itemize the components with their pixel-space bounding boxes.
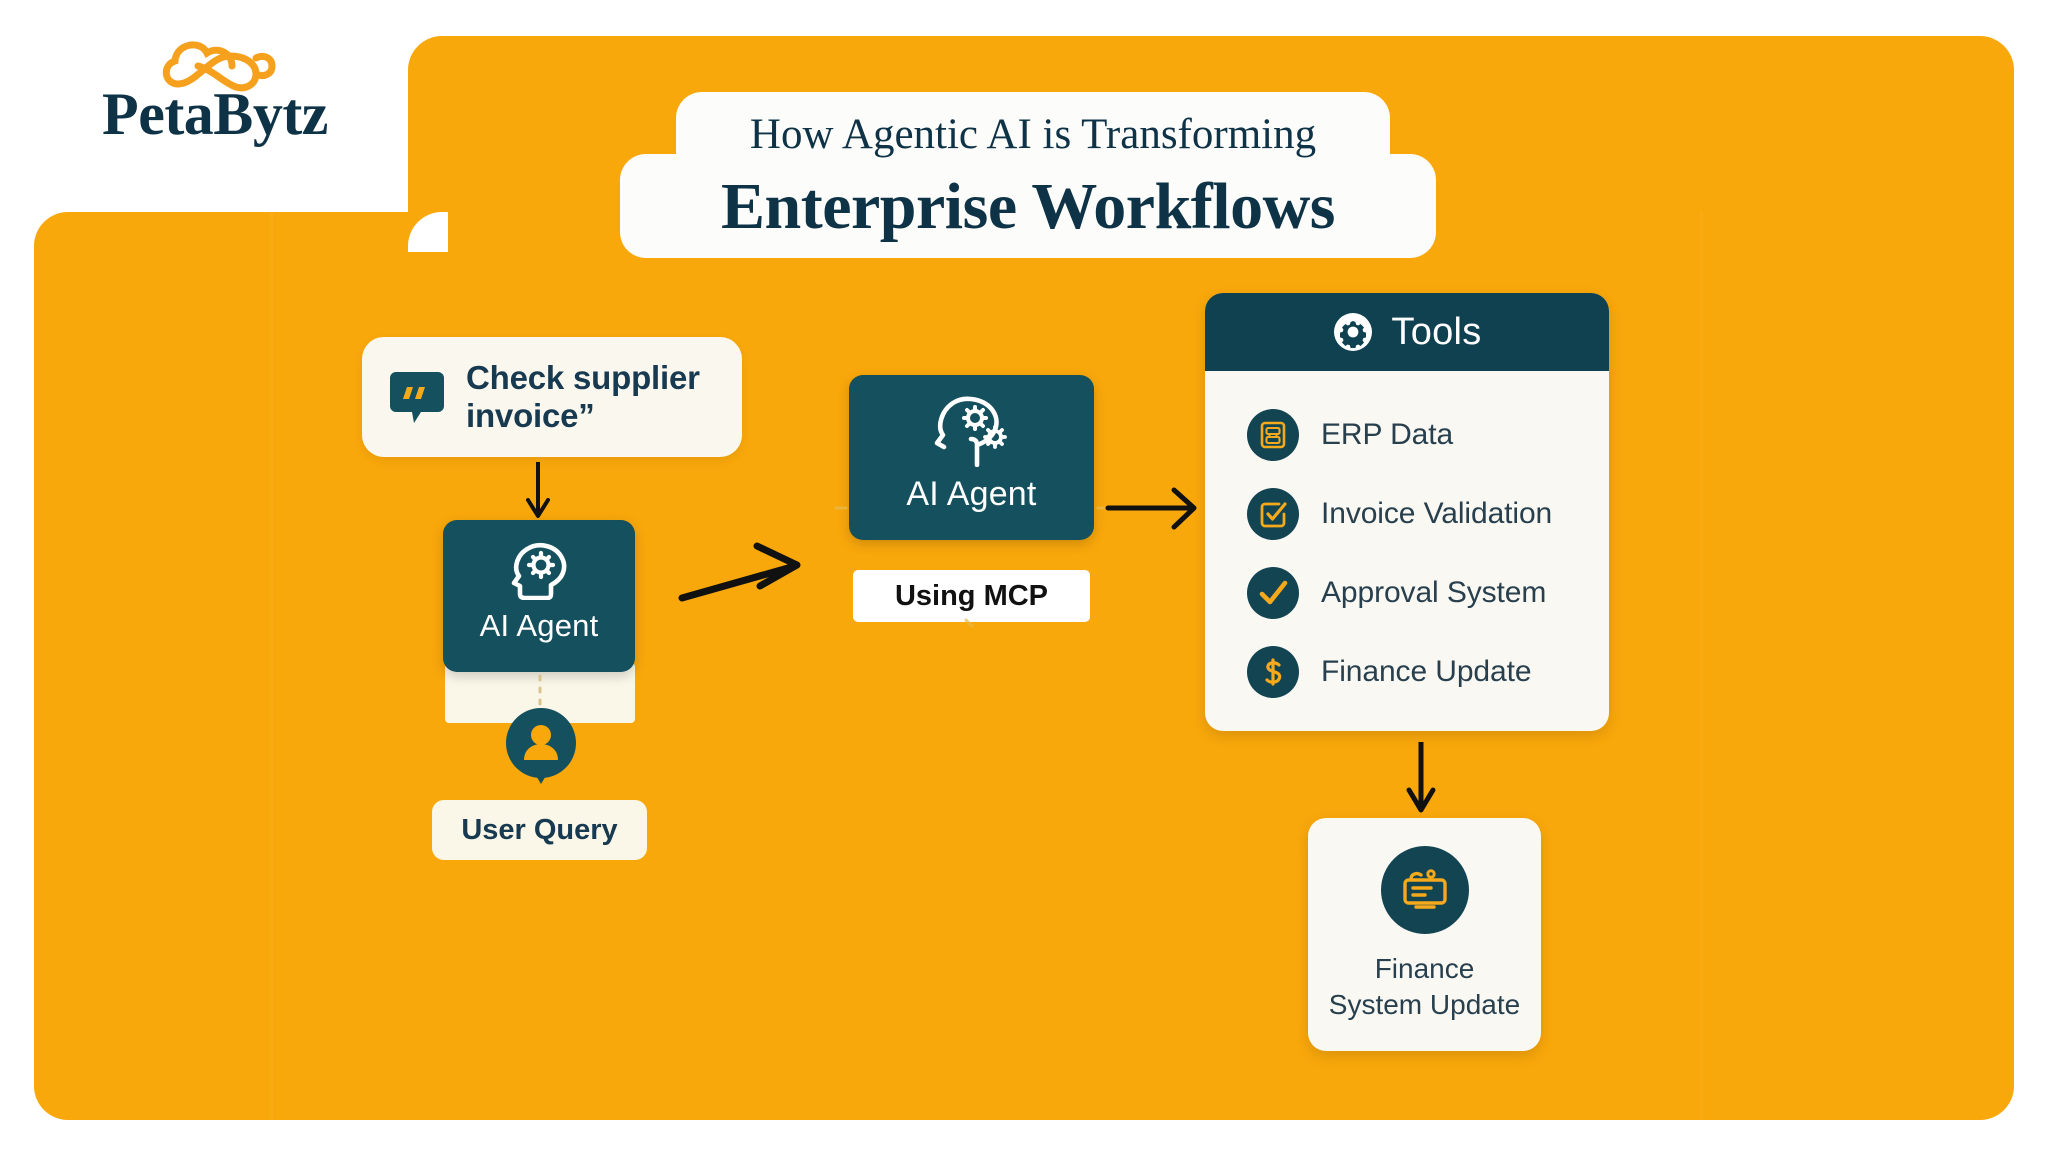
- tools-list: ERP Data Invoice Validation Approval Sys…: [1205, 371, 1609, 711]
- tool-label: ERP Data: [1321, 418, 1453, 452]
- prompt-text-line2: invoice”: [466, 397, 700, 435]
- user-avatar-icon: [503, 708, 579, 784]
- ledger-invoice-icon: [1381, 846, 1469, 934]
- finance-system-update-card[interactable]: Finance System Update: [1308, 818, 1541, 1051]
- canvas-main-panel: [34, 212, 2014, 1120]
- gear-icon: [1332, 311, 1374, 353]
- finance-label-line1: Finance: [1308, 951, 1541, 987]
- quote-bubble-icon: [388, 368, 446, 426]
- ai-agent-2-label: AI Agent: [849, 475, 1094, 514]
- finance-label-line2: System Update: [1308, 987, 1541, 1023]
- user-query-text: User Query: [461, 814, 617, 847]
- tool-item-finance-update[interactable]: Finance Update: [1247, 632, 1609, 711]
- tools-panel: Tools ERP Data Invoice V: [1205, 293, 1609, 731]
- user-query-label: User Query: [432, 800, 647, 860]
- title-line2-text: Enterprise Workflows: [620, 162, 1436, 252]
- ai-agent-1-label: AI Agent: [443, 608, 635, 644]
- ai-agent-node-1[interactable]: AI Agent: [443, 520, 635, 672]
- tool-item-erp-data[interactable]: ERP Data: [1247, 395, 1609, 474]
- tools-panel-header: Tools: [1205, 293, 1609, 371]
- checkbox-check-icon: [1247, 488, 1299, 540]
- tool-item-approval-system[interactable]: Approval System: [1247, 553, 1609, 632]
- prompt-text-line1: Check supplier: [466, 359, 700, 397]
- head-two-gears-icon: [929, 391, 1017, 467]
- currency-dollar-icon: [1247, 646, 1299, 698]
- tool-label: Invoice Validation: [1321, 497, 1552, 531]
- page-title: How Agentic AI is Transforming Enterpris…: [620, 92, 1440, 262]
- tool-item-invoice-validation[interactable]: Invoice Validation: [1247, 474, 1609, 553]
- finance-card-label: Finance System Update: [1308, 951, 1541, 1023]
- prompt-bubble-card[interactable]: Check supplier invoice”: [362, 337, 742, 457]
- brand-wordmark: PetaBytz: [80, 84, 350, 144]
- head-gear-icon: [505, 538, 573, 600]
- prompt-bubble-text: Check supplier invoice”: [466, 359, 700, 435]
- tools-panel-title: Tools: [1391, 311, 1481, 354]
- erp-database-icon: [1247, 409, 1299, 461]
- tool-label: Finance Update: [1321, 655, 1531, 689]
- tool-label: Approval System: [1321, 576, 1546, 610]
- brand-logo: PetaBytz: [80, 34, 350, 154]
- using-mcp-text: Using MCP: [895, 580, 1048, 613]
- check-mark-icon: [1247, 567, 1299, 619]
- title-line1-text: How Agentic AI is Transforming: [676, 100, 1390, 170]
- ai-agent-node-2[interactable]: AI Agent: [849, 375, 1094, 540]
- using-mcp-label: Using MCP: [853, 570, 1090, 622]
